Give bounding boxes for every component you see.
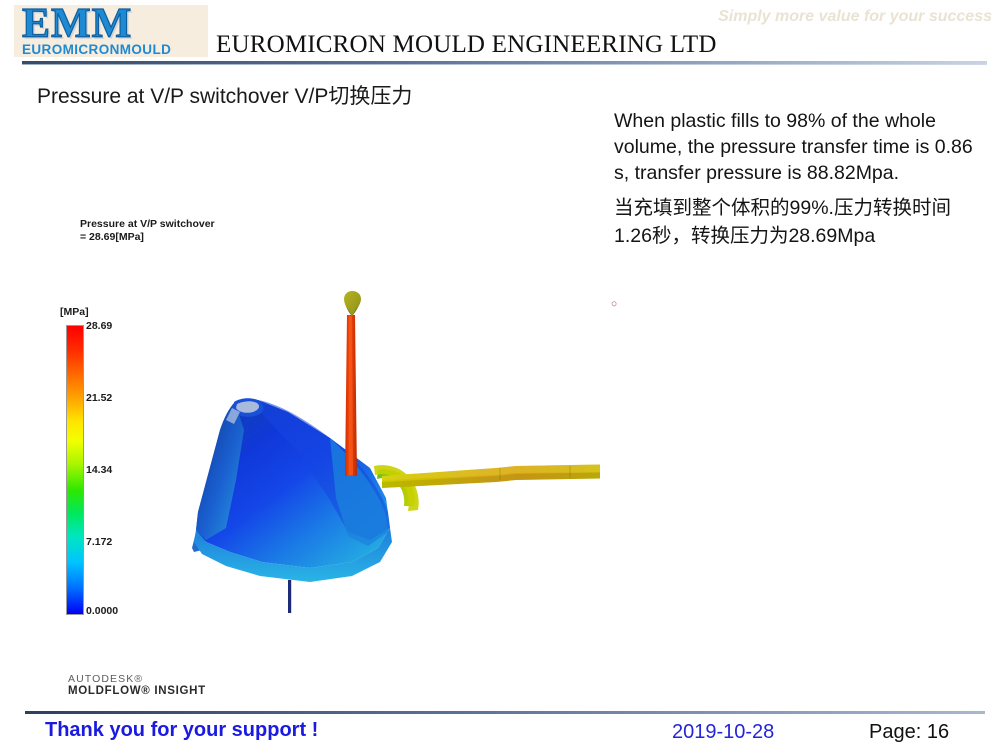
footer-thanks-text: Thank you for your support !: [45, 719, 318, 742]
footer-divider: [25, 711, 985, 714]
header-divider-thin: [22, 64, 987, 65]
left-molded-part: [192, 398, 392, 613]
stray-punctuation: 。: [611, 286, 627, 310]
slide-canvas: EMM EUROMICRONMOULD EUROMICRON MOULD ENG…: [0, 0, 1000, 750]
footer-date: 2019-10-28: [672, 721, 774, 744]
description-block: When plastic fills to 98% of the whole v…: [614, 108, 986, 258]
company-tagline: Simply more value for your success: [718, 8, 992, 26]
footer-page-number: Page: 16: [869, 721, 949, 744]
runner-channel: [382, 462, 600, 488]
mold-part-3d-render: [30, 180, 600, 710]
sprue: [344, 291, 361, 476]
company-logo: EMM EUROMICRONMOULD: [14, 5, 208, 57]
logo-subtitle-text: EUROMICRONMOULD: [22, 43, 171, 57]
company-name: EUROMICRON MOULD ENGINEERING LTD: [216, 31, 717, 59]
moldflow-viewport: Pressure at V/P switchover = 28.69[MPa] …: [30, 180, 600, 710]
logo-emm-text: EMM: [22, 5, 132, 45]
page-title: Pressure at V/P switchover V/P切换压力: [37, 80, 412, 110]
description-english: When plastic fills to 98% of the whole v…: [614, 108, 986, 186]
description-chinese: 当充填到整个体积的99%.压力转换时间1.26秒，转换压力为28.69Mpa: [614, 194, 986, 250]
